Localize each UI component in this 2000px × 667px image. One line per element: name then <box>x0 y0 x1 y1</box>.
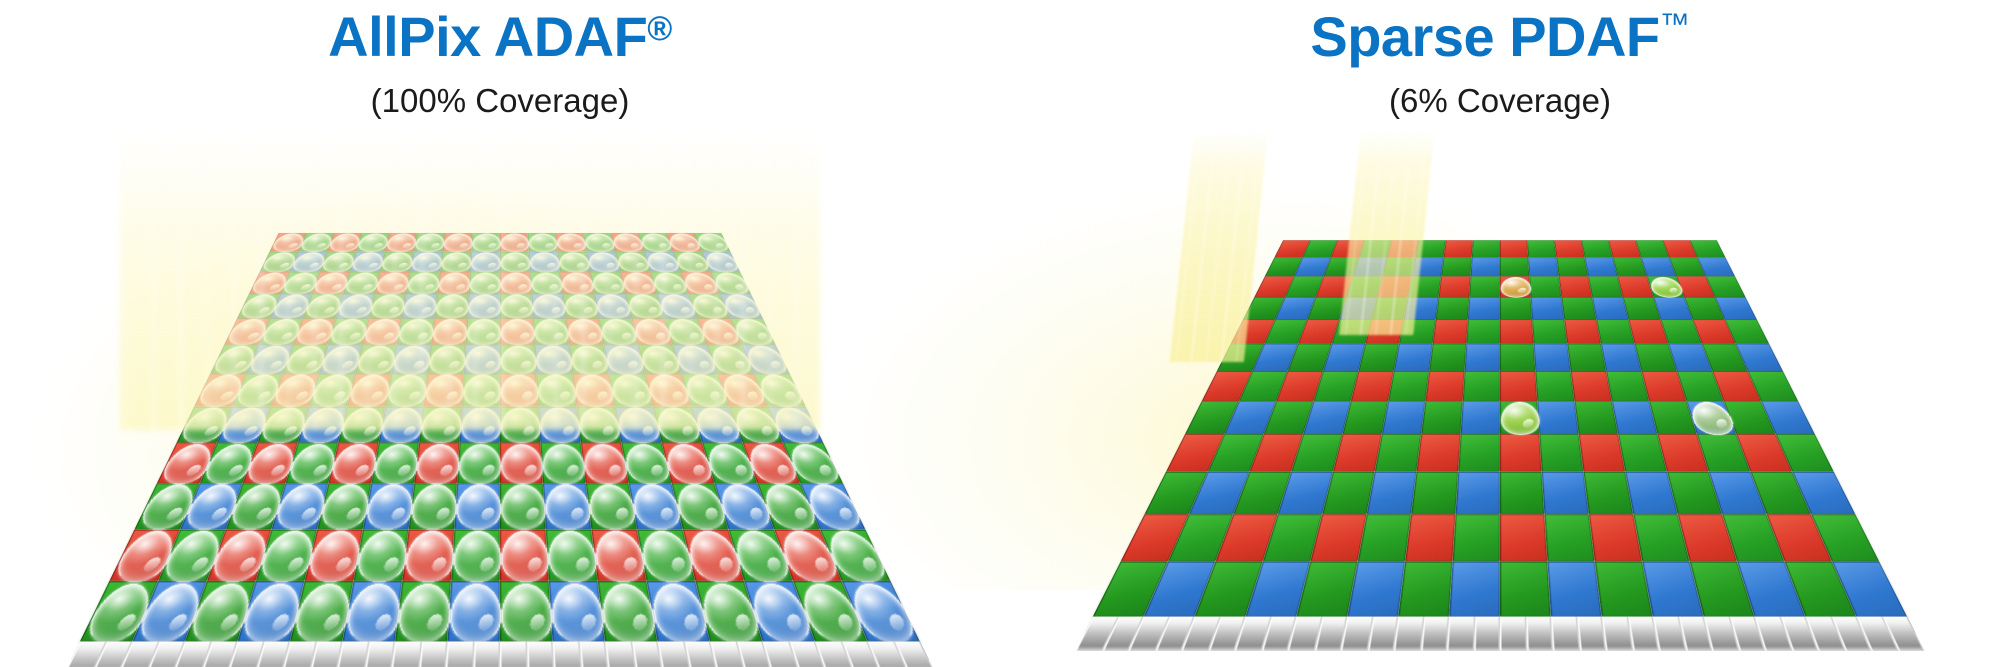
sensor-pixel <box>569 345 609 374</box>
sensor-pixel <box>451 529 500 581</box>
sensor-pixel <box>1461 401 1500 434</box>
sensor-pixel <box>558 252 591 272</box>
sensor-pixel <box>549 582 605 642</box>
substrate-cell <box>1473 617 1500 651</box>
sensor-pixel <box>581 443 629 484</box>
sensor-pixel <box>500 582 553 642</box>
sensor-pixel <box>454 483 500 529</box>
sensor-pixel <box>576 407 621 443</box>
sensor-pixel <box>1456 472 1500 514</box>
light-ray <box>1191 130 1216 362</box>
sensor-pixel <box>1415 240 1445 257</box>
substrate-cell <box>390 642 421 667</box>
sensor-pixel <box>362 318 401 345</box>
sensor-pixel <box>409 483 457 529</box>
sensor-pixel <box>470 252 500 272</box>
sensor-pixel <box>540 443 585 484</box>
sensor-pixel <box>664 318 707 345</box>
sensor-pixel <box>500 272 531 294</box>
sensor-pixel <box>1531 297 1565 319</box>
sensor-pixel <box>434 294 468 318</box>
color-filter-array-sparse <box>1093 240 1908 616</box>
substrate-cell <box>363 642 395 667</box>
sensor-pixel <box>500 252 530 272</box>
panel-title-sparse-pdaf: Sparse PDAF™ <box>1000 8 2000 67</box>
sensor-pixel <box>528 233 558 252</box>
sensor-pixel <box>1500 297 1532 319</box>
sensor-pixel <box>391 345 431 374</box>
sensor-pixel <box>1469 276 1500 297</box>
sensor-pixel <box>1375 434 1421 471</box>
sensor-pixel <box>447 582 500 642</box>
sensor-pixel <box>1567 344 1606 371</box>
sensor-pixel <box>1500 401 1539 434</box>
sensor-pixel <box>1500 371 1537 401</box>
panel-title-allpix-adaf: AllPix ADAF® <box>0 8 1000 67</box>
sensor-pixel <box>530 272 563 294</box>
sensor-pixel <box>1411 472 1458 514</box>
sensor-pixel <box>419 407 462 443</box>
sensor-pixel <box>414 443 459 484</box>
sensor-pixel <box>1561 297 1596 319</box>
sensor-pixel <box>1377 276 1412 297</box>
comparison-figure: AllPix ADAF® (100% Coverage) Sparse PDAF… <box>0 0 2000 667</box>
sensor-pixel <box>1358 514 1412 562</box>
sensor-pixel <box>466 318 500 345</box>
color-filter-array-full <box>80 233 920 642</box>
sensor-pixel <box>397 318 435 345</box>
light-ray <box>153 130 155 430</box>
sensor-pixel <box>621 443 671 484</box>
sensor-pixel <box>1468 297 1500 319</box>
sensor-pixel <box>338 407 385 443</box>
sensor-pixel <box>1529 276 1561 297</box>
sensor-pixel <box>1441 258 1472 277</box>
sensor-pixel <box>638 345 681 374</box>
sensor-pixel <box>500 407 540 443</box>
sensor-pixel <box>437 272 470 294</box>
light-ray <box>1206 130 1231 362</box>
sensor-pixel <box>1500 562 1551 617</box>
light-ray <box>126 130 128 430</box>
sensor-pixel <box>1500 434 1542 471</box>
sensor-pixel <box>424 374 464 406</box>
sensor-pixel <box>662 443 715 484</box>
sensor-pixel <box>457 443 500 484</box>
sensor-pixel <box>531 294 565 318</box>
sensor-pixel <box>1500 240 1528 257</box>
sensor-pixel <box>1761 401 1815 434</box>
sensor-pixel <box>1463 371 1500 401</box>
sensor-pixel <box>471 233 500 252</box>
sensor-pixel <box>546 529 598 581</box>
substrate-cell <box>1551 617 1580 651</box>
sensor-pixel <box>1399 319 1436 344</box>
sensor-pixel <box>414 233 445 252</box>
sensor-board-full <box>80 233 920 642</box>
sensor-pixel <box>1500 258 1529 277</box>
light-ray <box>796 130 798 430</box>
sensor-diagram-sparse-pdaf <box>1000 130 2000 600</box>
sensor-pixel <box>342 582 402 642</box>
sensor-pixel <box>347 374 391 406</box>
sensor-pixel <box>672 345 717 374</box>
substrate-cell <box>553 642 583 667</box>
sensor-pixel <box>1575 401 1619 434</box>
sensor-pixel <box>1606 371 1649 401</box>
sensor-pixel <box>427 345 465 374</box>
sensor-pixel <box>1372 297 1408 319</box>
sensor-pixel <box>401 294 437 318</box>
sensor-pixel <box>464 345 500 374</box>
sensor-pixel <box>1444 240 1473 257</box>
sensor-pixel <box>555 233 586 252</box>
substrate-layer-full <box>62 642 939 667</box>
sensor-pixel <box>1412 258 1444 277</box>
substrate-cell <box>1420 617 1449 651</box>
sensor-pixel <box>1559 276 1592 297</box>
sensor-pixel <box>1528 258 1559 277</box>
sensor-board-sparse <box>1093 240 1908 616</box>
sensor-pixel <box>536 374 576 406</box>
sensor-pixel <box>1472 240 1500 257</box>
sensor-pixel <box>460 407 500 443</box>
sensor-pixel <box>1500 319 1534 344</box>
sensor-pixel <box>533 318 569 345</box>
sensor-pixel <box>1439 276 1471 297</box>
sensor-pixel <box>442 233 472 252</box>
substrate-cell <box>445 642 474 667</box>
sensor-pixel <box>500 443 543 484</box>
sensor-pixel <box>1394 344 1433 371</box>
sensor-pixel <box>402 529 454 581</box>
substrate-cell <box>418 642 448 667</box>
sensor-pixel <box>1500 344 1535 371</box>
sensor-pixel <box>1425 371 1464 401</box>
sensor-pixel <box>538 407 581 443</box>
sensor-pixel <box>1642 371 1687 401</box>
sensor-pixel <box>599 318 638 345</box>
sensor-pixel <box>1358 344 1399 371</box>
sensor-pixel <box>1500 276 1531 297</box>
sensor-pixel <box>363 483 414 529</box>
sensor-pixel <box>380 252 414 272</box>
sensor-pixel <box>1342 401 1388 434</box>
sensor-pixel <box>1365 319 1403 344</box>
sensor-pixel <box>1465 344 1500 371</box>
substrate-layer-sparse <box>1075 617 1924 651</box>
title-text: Sparse PDAF <box>1310 5 1659 68</box>
panel-allpix-adaf: AllPix ADAF® (100% Coverage) <box>0 0 1000 667</box>
sensor-pixel <box>1527 240 1556 257</box>
sensor-pixel <box>1367 472 1417 514</box>
sensor-pixel <box>385 374 427 406</box>
sensor-pixel <box>1544 514 1594 562</box>
sensor-pixel <box>566 318 604 345</box>
sensor-pixel <box>500 345 536 374</box>
sensor-pixel <box>603 345 645 374</box>
title-text: AllPix ADAF <box>328 5 647 68</box>
sensor-pixel <box>500 374 538 406</box>
sensor-pixel <box>462 374 500 406</box>
sensor-pixel <box>1291 434 1342 471</box>
sensor-pixel <box>1535 371 1574 401</box>
sensor-pixel <box>1537 401 1578 434</box>
sensor-pixel <box>355 345 397 374</box>
substrate-cell <box>500 642 527 667</box>
sensor-pixel <box>543 483 591 529</box>
sensor-pixel <box>500 233 529 252</box>
sensor-pixel <box>1429 344 1466 371</box>
sensor-pixel <box>369 294 406 318</box>
sensor-pixel <box>1571 371 1612 401</box>
sensor-pixel <box>379 407 424 443</box>
sensor-pixel <box>1556 258 1588 277</box>
sensor-pixel <box>1534 344 1571 371</box>
sensor-pixel <box>1249 434 1303 471</box>
sensor-pixel <box>1618 434 1667 471</box>
sensor-pixel <box>1449 562 1500 617</box>
sensor-pixel <box>1458 434 1500 471</box>
sensor-pixel <box>328 443 378 484</box>
sensor-pixel <box>1471 258 1500 277</box>
sensor-pixel <box>1532 319 1567 344</box>
panel-subtitle-sparse-pdaf: (6% Coverage) <box>1000 82 2000 120</box>
sensor-pixel <box>672 483 729 529</box>
sensor-pixel <box>1776 434 1834 471</box>
sensor-pixel <box>1453 514 1500 562</box>
sensor-pixel <box>1405 514 1455 562</box>
sensor-pixel <box>467 294 500 318</box>
sensor-pixel <box>529 252 560 272</box>
panel-sparse-pdaf: Sparse PDAF™ (6% Coverage) <box>1000 0 2000 667</box>
substrate-cell <box>1447 617 1475 651</box>
sensor-pixel <box>586 483 637 529</box>
sensor-pixel <box>371 443 419 484</box>
sensor-pixel <box>1388 371 1429 401</box>
sensor-pixel <box>629 483 683 529</box>
sensor-pixel <box>500 294 533 318</box>
sensor-pixel <box>1333 434 1382 471</box>
sensor-pixel <box>1564 319 1601 344</box>
sensor-pixel <box>1421 401 1462 434</box>
sensor-pixel <box>647 582 710 642</box>
sensor-pixel <box>1579 434 1625 471</box>
sensor-pixel <box>1433 319 1468 344</box>
sensor-pixel <box>1542 472 1589 514</box>
sensor-pixel <box>534 345 572 374</box>
sensor-pixel <box>1382 401 1426 434</box>
sensor-pixel <box>1351 371 1394 401</box>
sensor-pixel <box>1436 297 1470 319</box>
panel-subtitle-allpix-adaf: (100% Coverage) <box>0 82 1000 120</box>
sensor-pixel <box>1387 240 1419 257</box>
sensor-pixel <box>500 318 534 345</box>
sensor-pixel <box>1500 472 1544 514</box>
trademark-icon: ™ <box>1660 8 1690 41</box>
sensor-pixel <box>374 272 409 294</box>
sensor-pixel <box>1347 562 1405 617</box>
light-ray <box>180 130 182 430</box>
sensor-pixel <box>406 272 440 294</box>
substrate-cell <box>473 642 500 667</box>
sensor-pixel <box>1408 276 1441 297</box>
sensor-diagram-allpix-adaf <box>0 130 1000 600</box>
sensor-pixel <box>1554 240 1584 257</box>
sensor-pixel <box>563 294 599 318</box>
substrate-cell <box>526 642 555 667</box>
registered-trademark-icon: ® <box>647 10 672 48</box>
sensor-pixel <box>1404 297 1439 319</box>
sensor-pixel <box>598 582 658 642</box>
sensor-pixel <box>631 318 672 345</box>
sensor-pixel <box>1547 562 1601 617</box>
sensor-pixel <box>1466 319 1500 344</box>
substrate-cell <box>1525 617 1553 651</box>
sensor-pixel <box>431 318 467 345</box>
sensor-pixel <box>1500 514 1547 562</box>
sensor-pixel <box>469 272 500 294</box>
substrate-cell <box>1500 617 1527 651</box>
sensor-pixel <box>385 233 417 252</box>
sensor-pixel <box>410 252 443 272</box>
sensor-pixel <box>573 374 615 406</box>
sensor-pixel <box>500 483 546 529</box>
sensor-pixel <box>353 529 408 581</box>
sensor-pixel <box>1398 562 1452 617</box>
substrate-cell <box>1394 617 1424 651</box>
sensor-pixel <box>560 272 594 294</box>
sensor-pixel <box>1382 258 1415 277</box>
sensor-pixel <box>1416 434 1460 471</box>
sensor-pixel <box>440 252 471 272</box>
sensor-pixel <box>1539 434 1583 471</box>
sensor-pixel <box>1658 434 1709 471</box>
sensor-pixel <box>500 529 549 581</box>
light-ray <box>1176 130 1201 362</box>
sensor-pixel <box>820 529 891 581</box>
sensor-pixel <box>395 582 451 642</box>
